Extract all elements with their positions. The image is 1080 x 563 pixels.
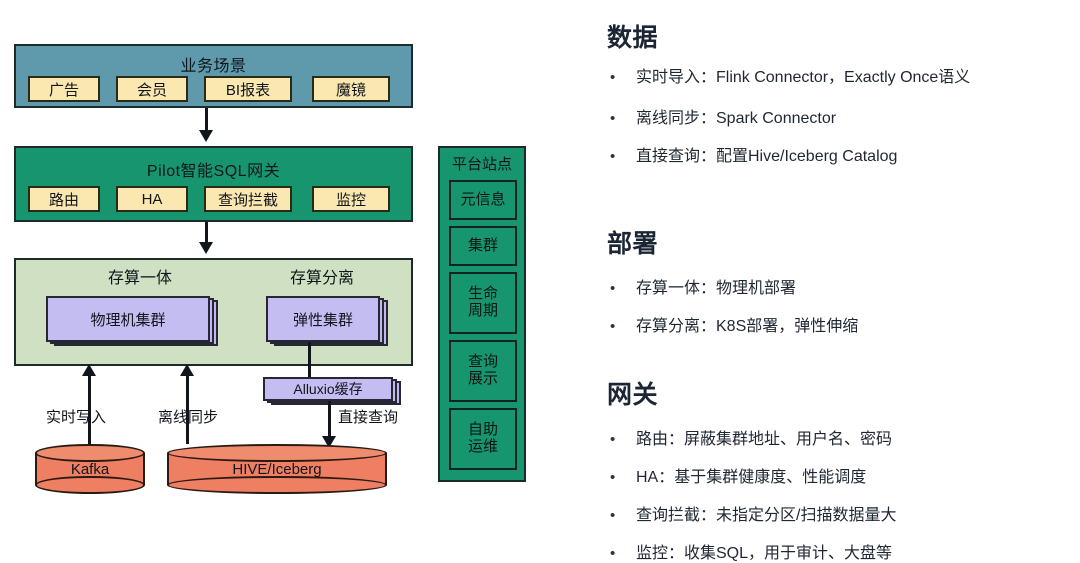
chip-routing[interactable]: 路由: [28, 186, 100, 212]
datastore-kafka[interactable]: Kafka: [35, 444, 145, 494]
arrowhead-gateway-to-storage: [199, 242, 213, 254]
architecture-slide: 业务场景 广告 会员 BI报表 魔镜 Pilot智能SQL网关 路由 HA 查询…: [0, 0, 1080, 560]
chip-magic-mirror[interactable]: 魔镜: [312, 76, 390, 102]
section-title-integrated: 存算一体: [60, 264, 220, 288]
flow-label-direct-query: 直接查询: [338, 406, 398, 427]
datastore-hive-iceberg-label: HIVE/Iceberg: [167, 444, 387, 494]
arrowhead-kafka-to-cluster: [82, 364, 96, 376]
connector-alluxio-to-hive: [328, 401, 331, 439]
notes-bullet-data-3: • 直接查询：配置Hive/Iceberg Catalog: [610, 142, 897, 166]
platform-site-panel: 平台站点 元信息 集群 生命 周期 查询 展示 自助 运维: [438, 146, 526, 482]
arrowhead-hive-to-cluster: [180, 364, 194, 376]
notes-bullet-deployment-2: • 存算分离：K8S部署，弹性伸缩: [610, 312, 858, 336]
cluster-physical-machine[interactable]: 物理机集群: [46, 296, 210, 342]
notes-bullet-gateway-1: • 路由：屏蔽集群地址、用户名、密码: [610, 425, 892, 449]
chip-bi-report[interactable]: BI报表: [204, 76, 292, 102]
bullet-icon: •: [610, 318, 636, 335]
platform-item-self-service-ops[interactable]: 自助 运维: [449, 408, 517, 470]
platform-item-query-display-line-2: 展示: [468, 371, 498, 388]
chip-query-interception[interactable]: 查询拦截: [204, 186, 292, 212]
chip-membership[interactable]: 会员: [116, 76, 188, 102]
platform-site-title: 平台站点: [440, 153, 524, 174]
alluxio-cache-box[interactable]: Alluxio缓存: [263, 377, 393, 401]
layer-business-title: 业务场景: [16, 52, 411, 76]
notes-bullet-deployment-2-text: 存算分离：K8S部署，弹性伸缩: [636, 312, 858, 336]
platform-item-query-display-line-1: 查询: [468, 354, 498, 371]
flow-label-realtime-write: 实时写入: [46, 406, 106, 427]
platform-item-lifecycle-line-1: 生命: [468, 286, 498, 303]
cluster-physical-machine-label: 物理机集群: [46, 296, 210, 342]
notes-bullet-gateway-2-text: HA：基于集群健康度、性能调度: [636, 463, 866, 487]
notes-bullet-data-2: • 离线同步：Spark Connector: [610, 104, 836, 128]
platform-item-lifecycle-line-2: 周期: [468, 303, 498, 320]
architecture-diagram: 业务场景 广告 会员 BI报表 魔镜 Pilot智能SQL网关 路由 HA 查询…: [0, 0, 560, 560]
notes-bullet-data-2-text: 离线同步：Spark Connector: [636, 104, 836, 128]
connector-elastic-to-alluxio: [308, 342, 311, 378]
flow-label-offline-sync: 离线同步: [158, 406, 218, 427]
notes-bullet-data-1: • 实时导入：Flink Connector，Exactly Once语义: [610, 63, 970, 87]
notes-bullet-gateway-3-text: 查询拦截：未指定分区/扫描数据量大: [636, 501, 896, 525]
bullet-icon: •: [610, 148, 636, 165]
notes-heading-gateway: 网关: [607, 375, 658, 411]
chip-ha[interactable]: HA: [116, 186, 188, 212]
notes-bullet-deployment-1: • 存算一体：物理机部署: [610, 274, 796, 298]
layer-sql-gateway: Pilot智能SQL网关 路由 HA 查询拦截 监控: [14, 146, 413, 222]
cluster-elastic-label: 弹性集群: [266, 296, 380, 342]
cluster-elastic[interactable]: 弹性集群: [266, 296, 380, 342]
notes-heading-deployment: 部署: [607, 224, 658, 260]
notes-heading-data: 数据: [607, 18, 658, 54]
notes-bullet-data-3-text: 直接查询：配置Hive/Iceberg Catalog: [636, 142, 897, 166]
bullet-icon: •: [610, 280, 636, 297]
platform-item-cluster-line-1: 集群: [468, 238, 498, 255]
notes-bullet-data-1-text: 实时导入：Flink Connector，Exactly Once语义: [636, 63, 970, 87]
bullet-icon: •: [610, 469, 636, 486]
bullet-icon: •: [610, 431, 636, 448]
platform-item-metadata-line-1: 元信息: [460, 192, 505, 209]
notes-bullet-gateway-1-text: 路由：屏蔽集群地址、用户名、密码: [636, 425, 892, 449]
bullet-icon: •: [610, 69, 636, 86]
platform-item-self-service-ops-line-2: 运维: [468, 439, 498, 456]
notes-bullet-deployment-1-text: 存算一体：物理机部署: [636, 274, 796, 298]
bullet-icon: •: [610, 507, 636, 524]
notes-column: 数据 • 实时导入：Flink Connector，Exactly Once语义…: [600, 0, 1080, 560]
notes-bullet-gateway-4: • 监控：收集SQL，用于审计、大盘等: [610, 539, 892, 563]
datastore-kafka-label: Kafka: [35, 444, 145, 494]
notes-bullet-gateway-2: • HA：基于集群健康度、性能调度: [610, 463, 866, 487]
platform-item-lifecycle[interactable]: 生命 周期: [449, 272, 517, 334]
platform-item-self-service-ops-line-1: 自助: [468, 422, 498, 439]
datastore-hive-iceberg[interactable]: HIVE/Iceberg: [167, 444, 387, 494]
alluxio-cache-label: Alluxio缓存: [263, 377, 393, 401]
section-title-separated: 存算分离: [252, 264, 392, 288]
platform-item-cluster[interactable]: 集群: [449, 226, 517, 266]
notes-bullet-gateway-4-text: 监控：收集SQL，用于审计、大盘等: [636, 539, 892, 563]
bullet-icon: •: [610, 545, 636, 562]
arrowhead-business-to-gateway: [199, 130, 213, 142]
chip-advertising[interactable]: 广告: [28, 76, 100, 102]
platform-item-metadata[interactable]: 元信息: [449, 180, 517, 220]
layer-gateway-title: Pilot智能SQL网关: [16, 157, 411, 181]
platform-item-query-display[interactable]: 查询 展示: [449, 340, 517, 402]
layer-business-scenarios: 业务场景 广告 会员 BI报表 魔镜: [14, 44, 413, 108]
bullet-icon: •: [610, 110, 636, 127]
chip-monitoring[interactable]: 监控: [312, 186, 390, 212]
notes-bullet-gateway-3: • 查询拦截：未指定分区/扫描数据量大: [610, 501, 896, 525]
